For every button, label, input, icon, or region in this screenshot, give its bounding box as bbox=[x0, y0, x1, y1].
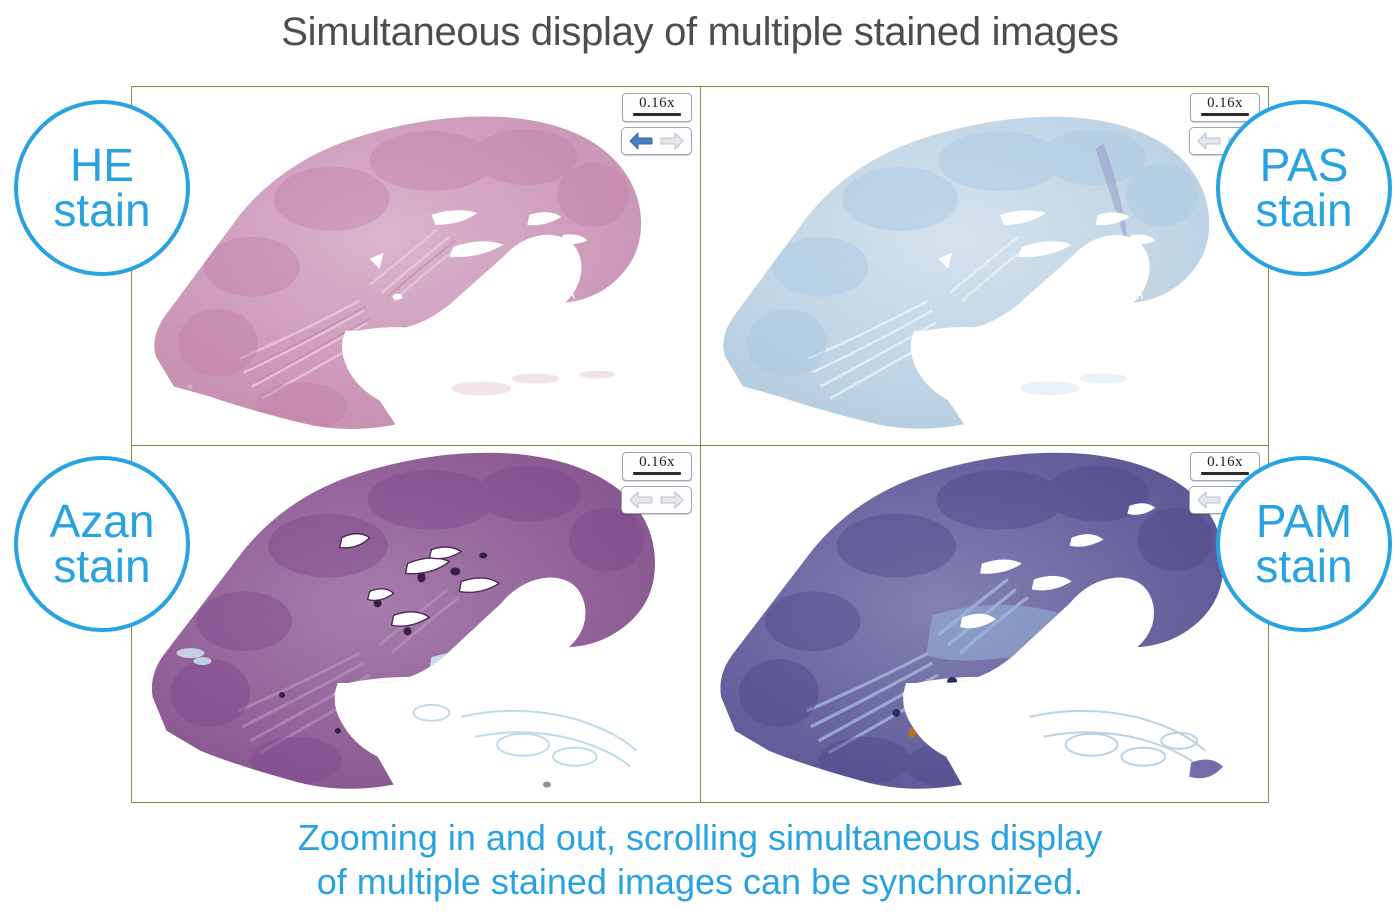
page-title: Simultaneous display of multiple stained… bbox=[0, 10, 1400, 55]
stain-label-line1: PAS bbox=[1260, 143, 1349, 188]
viewer-pane-pam[interactable]: 0.16x bbox=[700, 445, 1268, 803]
nav-forward-arrow-icon[interactable] bbox=[659, 490, 685, 510]
multi-stain-viewer-grid: 0.16x bbox=[131, 86, 1269, 803]
viewer-pane-he[interactable]: 0.16x bbox=[132, 87, 700, 445]
zoom-level-box-he[interactable]: 0.16x bbox=[622, 93, 692, 122]
slide-image-pam[interactable] bbox=[701, 446, 1268, 803]
nav-back-arrow-icon[interactable] bbox=[1196, 490, 1222, 510]
zoom-nav-box-azan[interactable] bbox=[621, 486, 692, 514]
zoom-level-value: 0.16x bbox=[633, 96, 681, 111]
stain-label-azan: Azan stain bbox=[14, 456, 190, 632]
viewer-pane-azan[interactable]: 0.16x bbox=[132, 445, 700, 803]
nav-back-arrow-icon[interactable] bbox=[1196, 131, 1222, 151]
stain-label-line1: Azan bbox=[50, 499, 155, 544]
stain-label-line1: PAM bbox=[1256, 499, 1352, 544]
viewer-pane-pas[interactable]: 0.16x bbox=[700, 87, 1268, 445]
zoom-level-value: 0.16x bbox=[1201, 455, 1249, 470]
nav-back-arrow-icon[interactable] bbox=[628, 490, 654, 510]
slide-image-he[interactable] bbox=[132, 87, 700, 445]
stain-label-pam: PAM stain bbox=[1216, 456, 1392, 632]
slide-image-pas[interactable] bbox=[701, 87, 1268, 445]
zoom-widget-he[interactable]: 0.16x bbox=[621, 93, 692, 155]
page-caption: Zooming in and out, scrolling simultaneo… bbox=[0, 816, 1400, 904]
zoom-level-bar bbox=[633, 472, 681, 475]
zoom-level-value: 0.16x bbox=[633, 455, 681, 470]
caption-line-1: Zooming in and out, scrolling simultaneo… bbox=[0, 816, 1400, 860]
zoom-widget-azan[interactable]: 0.16x bbox=[621, 452, 692, 514]
stain-label-line2: stain bbox=[1255, 544, 1352, 589]
stain-label-line2: stain bbox=[53, 188, 150, 233]
zoom-level-bar bbox=[1201, 472, 1249, 475]
slide-image-azan[interactable] bbox=[132, 446, 700, 803]
nav-back-arrow-icon[interactable] bbox=[628, 131, 654, 151]
zoom-nav-box-he[interactable] bbox=[621, 127, 692, 155]
zoom-level-bar bbox=[1201, 113, 1249, 116]
zoom-level-box-azan[interactable]: 0.16x bbox=[622, 452, 692, 481]
stain-label-he: HE stain bbox=[14, 100, 190, 276]
nav-forward-arrow-icon[interactable] bbox=[659, 131, 685, 151]
stain-label-line1: HE bbox=[70, 143, 134, 188]
zoom-level-bar bbox=[633, 113, 681, 116]
caption-line-2: of multiple stained images can be synchr… bbox=[0, 860, 1400, 904]
zoom-level-value: 0.16x bbox=[1201, 96, 1249, 111]
stain-label-line2: stain bbox=[1255, 188, 1352, 233]
stain-label-pas: PAS stain bbox=[1216, 100, 1392, 276]
stain-label-line2: stain bbox=[53, 544, 150, 589]
